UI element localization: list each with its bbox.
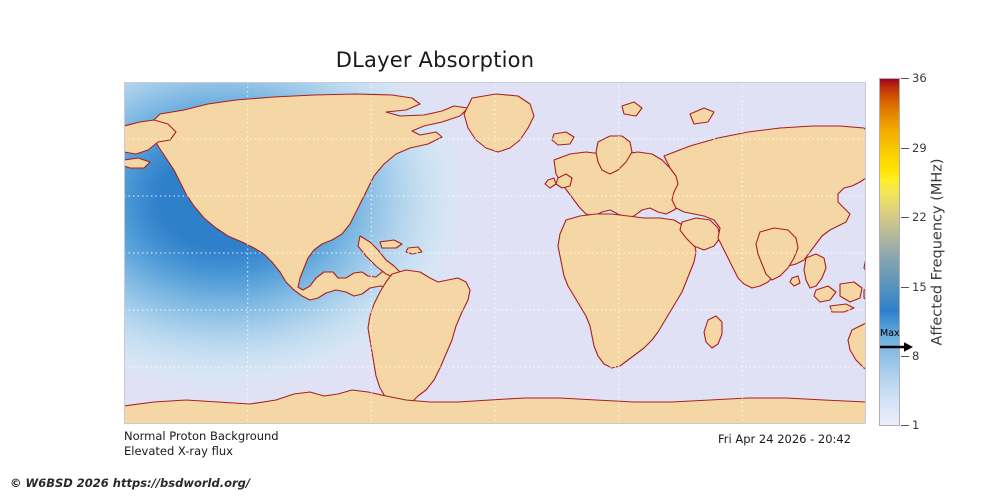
colorbar-tick-22: [901, 217, 909, 218]
colorbar-label-1: 1: [912, 418, 919, 432]
status-line-proton: Normal Proton Background: [124, 429, 279, 444]
colorbar-axis-title-text: Affected Frequency (MHz): [930, 158, 946, 345]
colorbar-tick-15: [901, 287, 909, 288]
colorbar-axis-title: Affected Frequency (MHz): [928, 78, 948, 426]
world-map: [124, 82, 866, 424]
colorbar-gradient: [879, 78, 900, 426]
colorbar-tick-8: [901, 356, 909, 357]
timestamp-label: Fri Apr 24 2026 - 20:42: [718, 432, 851, 446]
world-map-axes: [124, 82, 866, 424]
colorbar-tick-36: [901, 78, 909, 79]
colorbar-label-36: 36: [912, 71, 927, 85]
colorbar-tick-29: [901, 148, 909, 149]
colorbar-label-15: 15: [912, 280, 927, 294]
colorbar-label-29: 29: [912, 141, 927, 155]
colorbar-tick-1: [901, 425, 909, 426]
colorbar: 36 29 22 15 8 1: [879, 78, 900, 426]
status-line-xray: Elevated X-ray flux: [124, 444, 279, 459]
copyright-label: © W6BSD 2026 https://bsdworld.org/: [10, 476, 250, 490]
colorbar-label-22: 22: [912, 210, 927, 224]
colorbar-label-8: 8: [912, 349, 919, 363]
page-title: DLayer Absorption: [0, 48, 870, 72]
status-annotations: Normal Proton Background Elevated X-ray …: [124, 429, 279, 458]
